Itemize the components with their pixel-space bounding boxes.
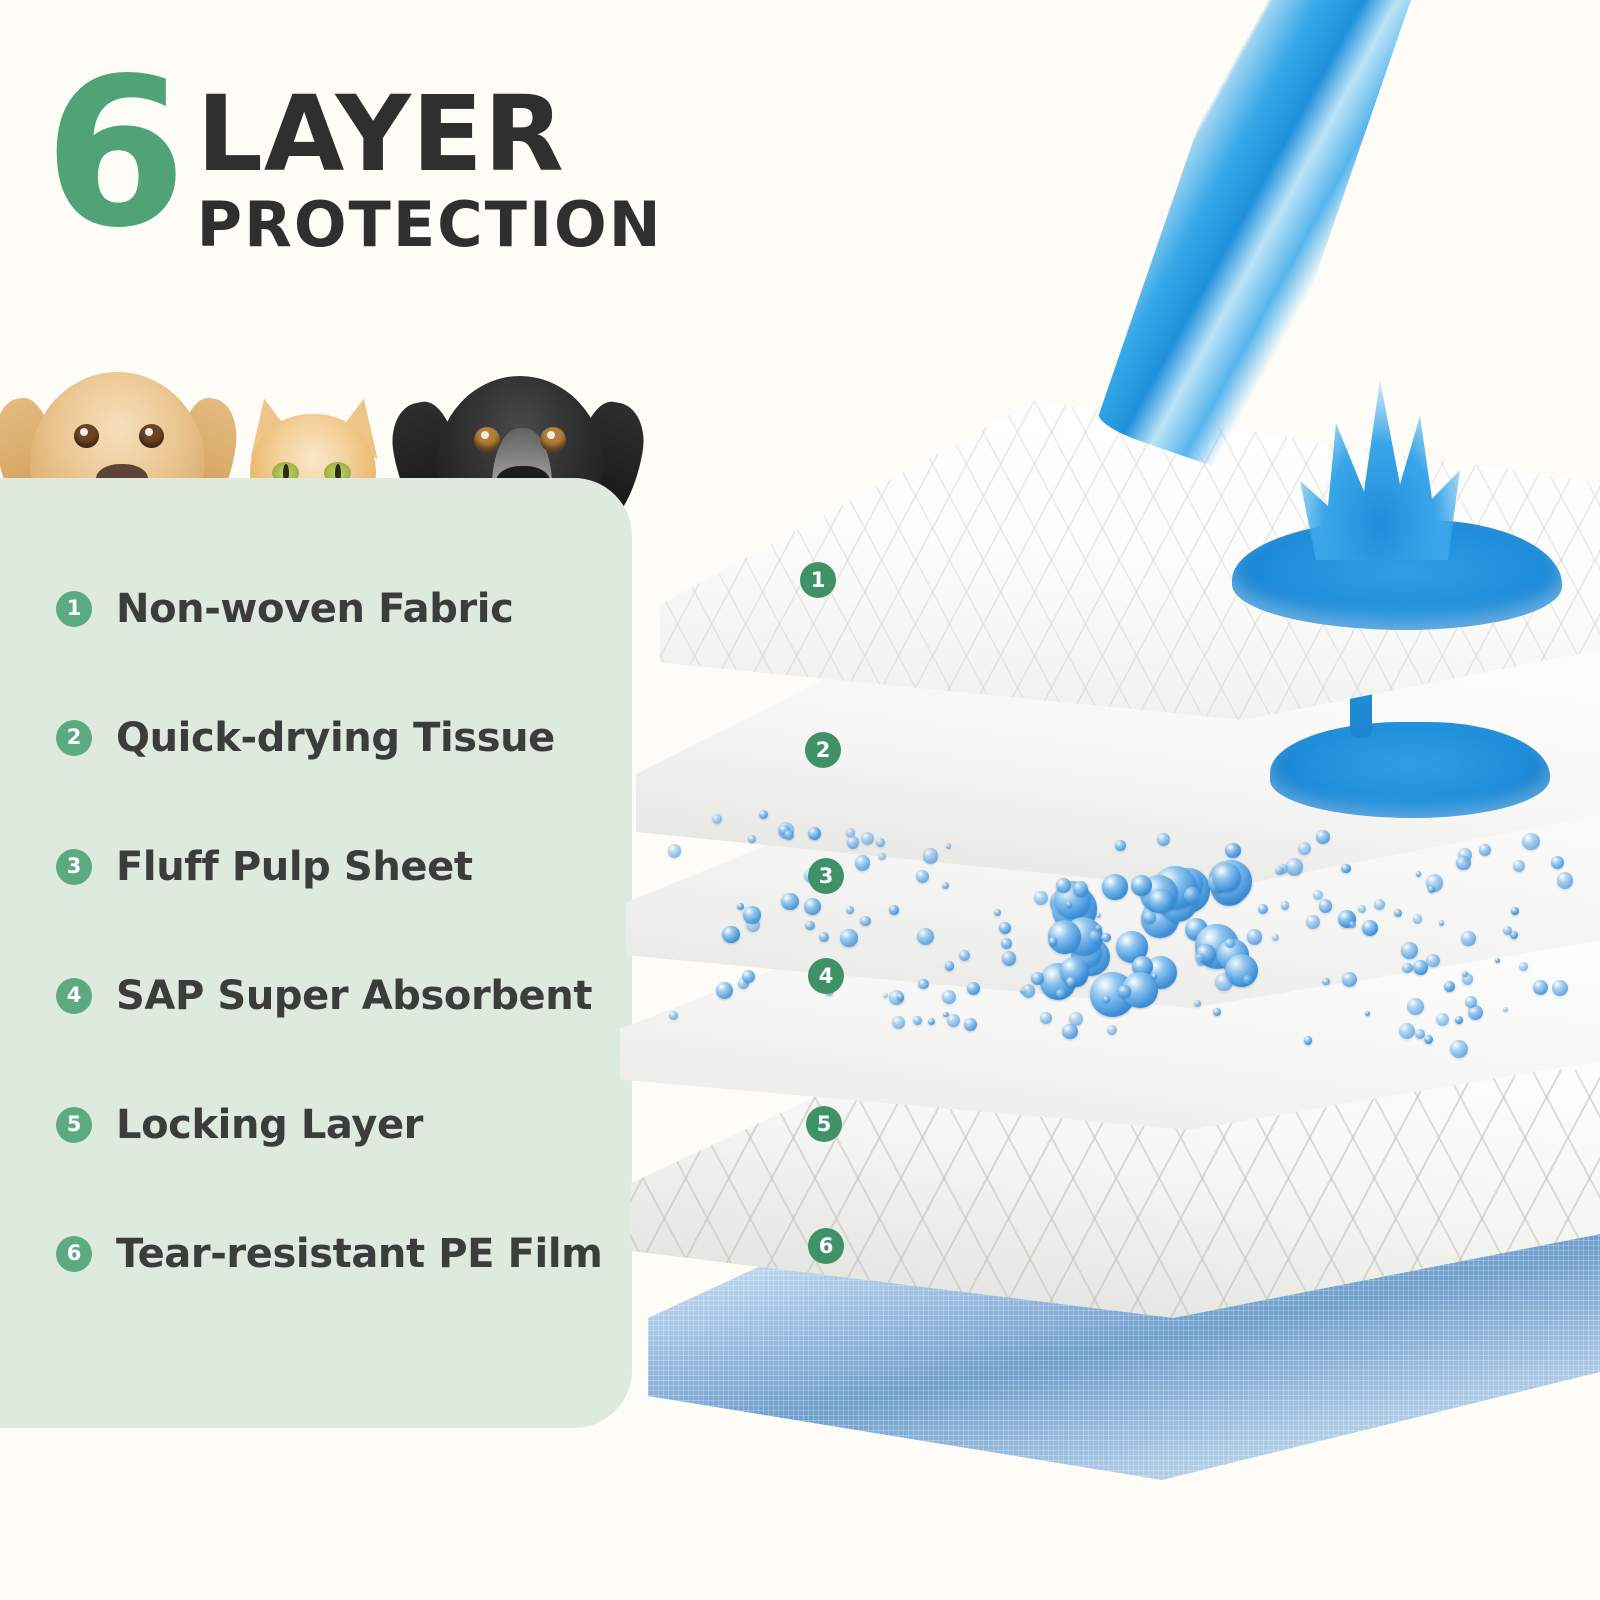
list-item: 6 Tear-resistant PE Film xyxy=(56,1189,602,1318)
collie-eye-right xyxy=(540,427,566,452)
dog-eye-right xyxy=(139,424,164,448)
layer-label-3: Fluff Pulp Sheet xyxy=(116,844,473,890)
dog-eye-left xyxy=(74,424,99,448)
headline-words: LAYER PROTECTION xyxy=(197,70,663,256)
layer-label-5: Locking Layer xyxy=(116,1102,423,1148)
photo-badge-6: 6 xyxy=(808,1228,844,1264)
list-item: 3 Fluff Pulp Sheet xyxy=(56,802,602,931)
layer-label-2: Quick-drying Tissue xyxy=(116,715,555,761)
layer-badge-2: 2 xyxy=(56,720,92,756)
list-item: 1 Non-woven Fabric xyxy=(56,544,602,673)
layer-badge-5: 5 xyxy=(56,1107,92,1143)
layer-badge-6: 6 xyxy=(56,1236,92,1272)
list-item: 2 Quick-drying Tissue xyxy=(56,673,602,802)
feature-panel: 1 Non-woven Fabric 2 Quick-drying Tissue… xyxy=(0,478,632,1428)
collie-eye-left xyxy=(474,427,500,452)
list-item: 5 Locking Layer xyxy=(56,1060,602,1189)
headline-number: 6 xyxy=(44,70,181,238)
headline-line-layer: LAYER xyxy=(197,82,663,186)
layer-badge-3: 3 xyxy=(56,849,92,885)
pad-layer-stack-photo: 1 2 3 4 5 6 xyxy=(620,0,1600,1600)
sap-bead xyxy=(668,844,681,857)
layer-label-1: Non-woven Fabric xyxy=(116,586,513,632)
layer-label-6: Tear-resistant PE Film xyxy=(116,1231,602,1277)
photo-badge-3: 3 xyxy=(808,858,844,894)
layer-badge-4: 4 xyxy=(56,978,92,1014)
layer-label-4: SAP Super Absorbent xyxy=(116,973,592,1019)
blue-liquid-puddle-lower xyxy=(1270,722,1550,818)
photo-badge-1: 1 xyxy=(800,562,836,598)
photo-badge-5: 5 xyxy=(806,1106,842,1142)
layer-feature-list: 1 Non-woven Fabric 2 Quick-drying Tissue… xyxy=(56,544,602,1318)
list-item: 4 SAP Super Absorbent xyxy=(56,931,602,1060)
headline-line-protection: PROTECTION xyxy=(197,194,663,256)
layer-badge-1: 1 xyxy=(56,591,92,627)
photo-badge-4: 4 xyxy=(808,958,844,994)
headline-block: 6 LAYER PROTECTION xyxy=(44,70,663,256)
photo-badge-2: 2 xyxy=(805,732,841,768)
blue-water-stream xyxy=(1095,0,1416,478)
